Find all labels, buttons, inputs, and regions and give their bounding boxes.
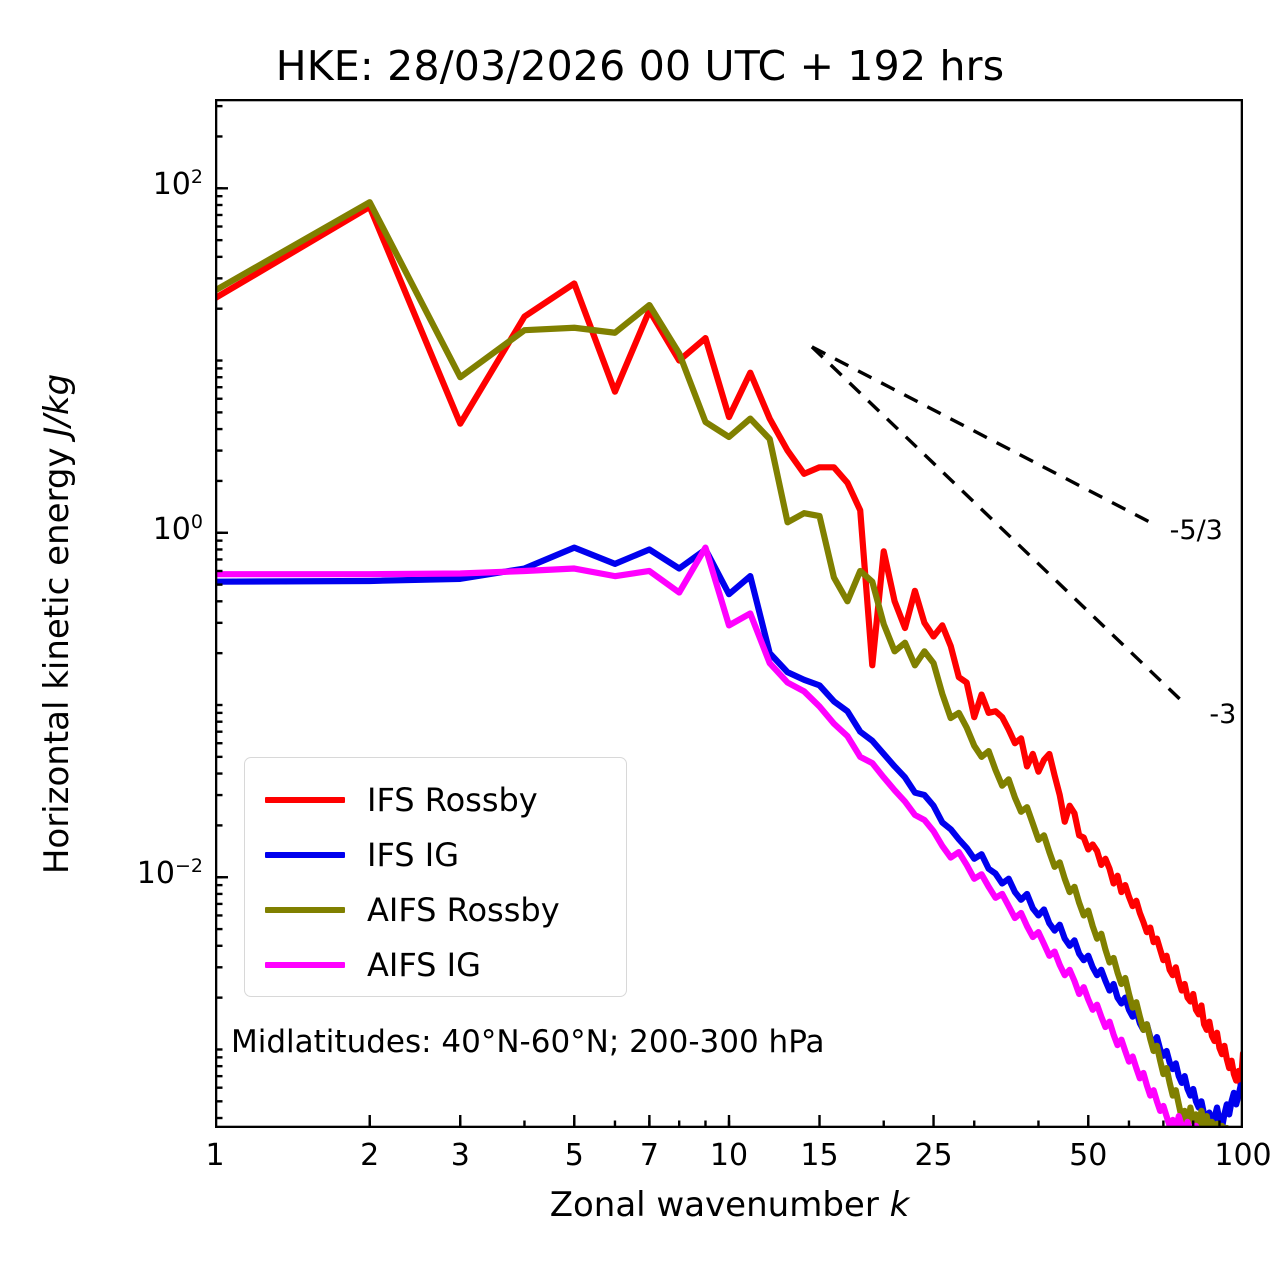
y-tick-mantissa: 10: [153, 512, 191, 547]
x-tick-label: 3: [400, 1138, 520, 1173]
reference-slope--5-3: [812, 347, 1150, 522]
legend-label: AIFS Rossby: [367, 894, 560, 926]
y-tick-mantissa: 10: [137, 856, 175, 891]
y-tick-mantissa: 10: [153, 167, 191, 202]
legend: IFS RossbyIFS IGAIFS RossbyAIFS IG: [244, 757, 627, 997]
slope-label--3: -3: [1209, 699, 1236, 730]
legend-swatch: [265, 907, 345, 913]
slope-label--5-3: -5/3: [1170, 515, 1223, 546]
page-title: HKE: 28/03/2026 00 UTC + 192 hrs: [0, 42, 1280, 90]
y-tick-label: 10−2: [43, 855, 203, 891]
chart-page: HKE: 28/03/2026 00 UTC + 192 hrs Horizon…: [0, 0, 1280, 1288]
legend-item-aifs-ig[interactable]: AIFS IG: [245, 937, 626, 992]
x-tick-label: 1: [155, 1138, 275, 1173]
x-axis-label-main: Zonal wavenumber: [550, 1185, 890, 1225]
legend-label: IFS Rossby: [367, 784, 538, 816]
x-tick-label: 25: [874, 1138, 994, 1173]
y-tick-label: 102: [43, 166, 203, 202]
x-axis-label-symbol: k: [890, 1185, 910, 1225]
legend-swatch: [265, 962, 345, 968]
y-tick-exponent: −2: [175, 855, 203, 877]
legend-item-aifs-rossby[interactable]: AIFS Rossby: [245, 882, 626, 937]
y-axis-label-main: Horizontal kinetic energy: [37, 437, 77, 875]
region-annotation: Midlatitudes: 40°N-60°N; 200-300 hPa: [231, 1024, 825, 1060]
y-tick-exponent: 2: [191, 166, 203, 188]
legend-label: IFS IG: [367, 839, 459, 871]
legend-item-ifs-ig[interactable]: IFS IG: [245, 827, 626, 882]
x-tick-label: 15: [760, 1138, 880, 1173]
legend-item-ifs-rossby[interactable]: IFS Rossby: [245, 772, 626, 827]
x-tick-label: 50: [1028, 1138, 1148, 1173]
legend-swatch: [265, 797, 345, 803]
x-axis-label: Zonal wavenumber k: [215, 1185, 1244, 1225]
y-axis-label-units: J/kg: [37, 374, 77, 437]
x-tick-label: 100: [1183, 1138, 1280, 1173]
y-tick-exponent: 0: [191, 511, 203, 533]
legend-swatch: [265, 852, 345, 858]
legend-label: AIFS IG: [367, 949, 481, 981]
y-tick-label: 100: [43, 511, 203, 547]
